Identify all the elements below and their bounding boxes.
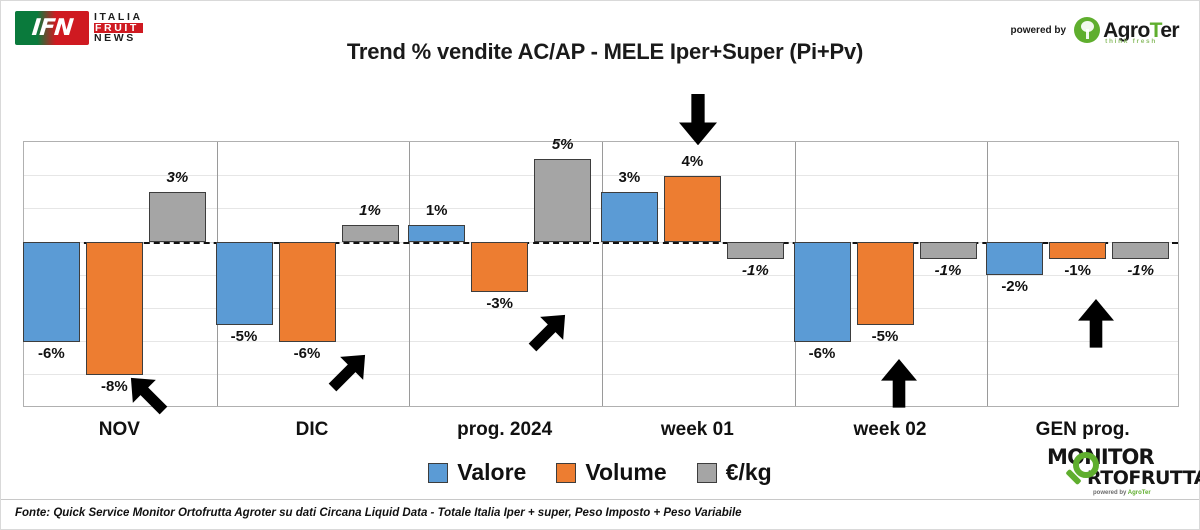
bar-value-label: -5% — [857, 328, 914, 345]
legend-label: €/kg — [726, 459, 772, 486]
arrow-dic-volume-icon — [321, 353, 367, 399]
gridline — [24, 341, 1178, 342]
gridline — [24, 374, 1178, 375]
legend-item[interactable]: Valore — [428, 459, 526, 486]
monitor-ortofrutta-logo: MONITOR RTOFRUTTA powered by AgroTer — [1047, 447, 1185, 495]
bar-value-label: 3% — [149, 169, 206, 186]
category-separator — [409, 142, 410, 406]
agroter-wordmark: AgroTerthink fresh — [1103, 20, 1179, 41]
gridline — [24, 308, 1178, 309]
bar-value-label: 4% — [664, 153, 721, 170]
arrow-week01-volume-icon — [679, 94, 717, 145]
plot-area: -6%-8%3%-5%-6%1%1%-3%5%3%4%-1%-6%-5%-1%-… — [23, 141, 1179, 407]
monitor-logo-line2: RTOFRUTTA — [1087, 469, 1185, 488]
bar — [601, 192, 658, 242]
monitor-logo-line1: MONITOR — [1047, 447, 1185, 468]
legend-label: Valore — [457, 459, 526, 486]
bar — [920, 242, 977, 259]
tree-icon — [1074, 17, 1100, 43]
source-note: Fonte: Quick Service Monitor Ortofrutta … — [15, 507, 742, 519]
monitor-tagline-prefix: powered by — [1093, 490, 1128, 496]
legend-swatch — [697, 463, 717, 483]
footer-bar: Fonte: Quick Service Monitor Ortofrutta … — [1, 499, 1199, 529]
bar — [408, 225, 465, 242]
bar-value-label: 3% — [601, 169, 658, 186]
bar — [149, 192, 206, 242]
ifn-badge-text: IFN — [30, 15, 73, 41]
bar — [986, 242, 1043, 275]
bar-value-label: -1% — [920, 262, 977, 279]
bar — [534, 159, 591, 242]
monitor-logo-line1-text: MONITOR — [1047, 445, 1154, 469]
category-label-week-01: week 01 — [601, 419, 794, 441]
bar-value-label: -5% — [216, 328, 273, 345]
category-label-nov: NOV — [23, 419, 216, 441]
bar — [471, 242, 528, 292]
bar-value-label: 5% — [534, 136, 591, 153]
legend-item[interactable]: €/kg — [697, 459, 772, 486]
arrow-nov-volume-icon — [129, 376, 175, 422]
bar — [794, 242, 851, 342]
bar — [1049, 242, 1106, 259]
bar — [727, 242, 784, 259]
bar-value-label: -6% — [23, 345, 80, 362]
legend-label: Volume — [585, 459, 666, 486]
monitor-logo-tagline: powered by AgroTer — [1093, 490, 1185, 496]
chart-screenshot: IFN ITALIA FRUIT NEWS Trend % vendite AC… — [0, 0, 1200, 530]
bar-value-label: 1% — [408, 202, 465, 219]
bar — [857, 242, 914, 325]
bar-value-label: -1% — [727, 262, 784, 279]
bar — [1112, 242, 1169, 259]
monitor-tagline-brand: AgroTer — [1128, 490, 1151, 496]
legend-item[interactable]: Volume — [556, 459, 666, 486]
category-label-gen-prog: GEN prog. — [986, 419, 1179, 441]
bar-value-label: -2% — [986, 278, 1043, 295]
bar-value-label: -1% — [1112, 262, 1169, 279]
agroter-logo: AgroTerthink fresh — [1074, 17, 1179, 43]
category-label-dic: DIC — [216, 419, 409, 441]
bar — [664, 176, 721, 242]
arrow-week02-volume-icon — [881, 359, 917, 408]
bar-value-label: 1% — [342, 202, 399, 219]
category-label-prog-2024: prog. 2024 — [408, 419, 601, 441]
arrow-prog2024-volume-icon — [521, 313, 567, 359]
bar — [23, 242, 80, 342]
bar-value-label: -1% — [1049, 262, 1106, 279]
bar — [216, 242, 273, 325]
bar-value-label: -6% — [794, 345, 851, 362]
powered-by-label: powered by — [1011, 25, 1067, 36]
bar — [86, 242, 143, 375]
legend-swatch — [428, 463, 448, 483]
magnifying-glass-icon — [1073, 452, 1099, 478]
chart-legend: ValoreVolume€/kg — [1, 459, 1199, 486]
powered-by-agroter: powered by AgroTerthink fresh — [1011, 17, 1180, 43]
agroter-tagline: think fresh — [1105, 39, 1157, 46]
category-label-week-02: week 02 — [794, 419, 987, 441]
bar — [342, 225, 399, 242]
arrow-genprog-volume-icon — [1078, 299, 1114, 348]
bar-value-label: -3% — [471, 295, 528, 312]
bar — [279, 242, 336, 342]
legend-swatch — [556, 463, 576, 483]
